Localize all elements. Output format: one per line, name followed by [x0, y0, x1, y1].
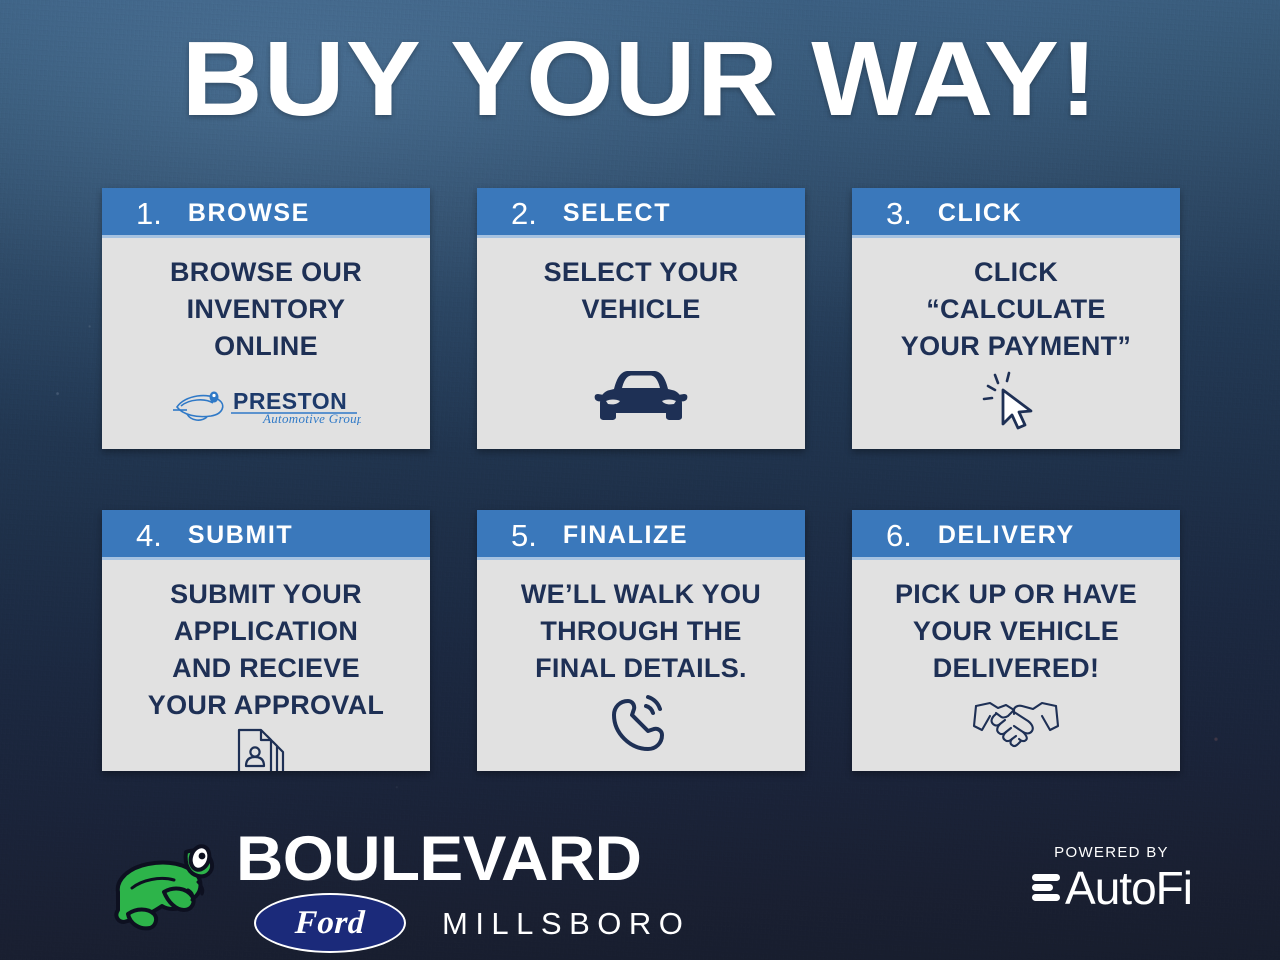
step-card-header: 6. DELIVERY	[852, 510, 1180, 560]
step-card-body: BROWSE OUR INVENTORY ONLINE PRESTON Auto…	[102, 238, 430, 449]
step-title: CLICK	[938, 201, 1022, 226]
step-description: BROWSE OUR INVENTORY ONLINE	[170, 254, 362, 365]
ford-wordmark: Ford	[294, 907, 366, 940]
car-front-icon	[594, 361, 688, 433]
step-card-header: 4. SUBMIT	[102, 510, 430, 560]
ford-logo: Ford	[254, 893, 406, 953]
step-title: FINALIZE	[563, 523, 688, 548]
preston-logo: PRESTON Automotive Group	[171, 383, 361, 425]
step-description: CLICK “CALCULATE YOUR PAYMENT”	[901, 254, 1131, 365]
frog-icon	[112, 830, 222, 938]
autofi-bars-icon	[1031, 870, 1061, 906]
step-number: 6.	[886, 520, 912, 551]
step-title: SUBMIT	[188, 523, 293, 548]
step-card-body: WE’LL WALK YOU THROUGH THE FINAL DETAILS…	[477, 560, 805, 771]
boulevard-wordmark: BOULEVARD	[236, 828, 709, 891]
phone-ringing-icon	[608, 687, 674, 759]
step-card-select[interactable]: 2. SELECT SELECT YOUR VEHICLE	[477, 188, 805, 449]
autofi-mark-row: AutoFi	[1031, 865, 1192, 911]
step-title: SELECT	[563, 201, 671, 226]
step-description: WE’LL WALK YOU THROUGH THE FINAL DETAILS…	[521, 576, 761, 687]
preston-automotive-group-logo-icon: PRESTON Automotive Group	[171, 383, 361, 425]
step-description: SELECT YOUR VEHICLE	[544, 254, 739, 328]
svg-text:Automotive Group: Automotive Group	[262, 411, 361, 425]
step-card-header: 5. FINALIZE	[477, 510, 805, 560]
step-card-header: 1. BROWSE	[102, 188, 430, 238]
step-card-body: PICK UP OR HAVE YOUR VEHICLE DELIVERED!	[852, 560, 1180, 771]
powered-by-label: POWERED BY	[1031, 844, 1192, 861]
ford-millsboro-row: Ford MILLSBORO	[254, 893, 690, 953]
document-person-icon	[237, 724, 295, 771]
handshake-icon	[970, 687, 1062, 759]
boulevard-ford-logo[interactable]: BOULEVARD Ford MILLSBORO	[112, 822, 690, 953]
step-card-body: SELECT YOUR VEHICLE	[477, 238, 805, 449]
step-card-browse[interactable]: 1. BROWSE BROWSE OUR INVENTORY ONLINE PR…	[102, 188, 430, 449]
step-number: 3.	[886, 198, 912, 229]
cursor-click-icon	[981, 365, 1051, 437]
autofi-wordmark: AutoFi	[1065, 865, 1192, 911]
footer: BOULEVARD Ford MILLSBORO POWERED BY Auto…	[0, 812, 1280, 960]
step-card-delivery[interactable]: 6. DELIVERY PICK UP OR HAVE YOUR VEHICLE…	[852, 510, 1180, 771]
step-number: 4.	[136, 520, 162, 551]
step-number: 2.	[511, 198, 537, 229]
step-number: 1.	[136, 198, 162, 229]
step-card-body: CLICK “CALCULATE YOUR PAYMENT”	[852, 238, 1180, 449]
step-card-finalize[interactable]: 5. FINALIZE WE’LL WALK YOU THROUGH THE F…	[477, 510, 805, 771]
step-card-header: 2. SELECT	[477, 188, 805, 238]
step-card-click[interactable]: 3. CLICK CLICK “CALCULATE YOUR PAYMENT”	[852, 188, 1180, 449]
page-title: BUY YOUR WAY!	[0, 26, 1280, 132]
step-number: 5.	[511, 520, 537, 551]
steps-grid: 1. BROWSE BROWSE OUR INVENTORY ONLINE PR…	[102, 188, 1180, 771]
step-description: SUBMIT YOUR APPLICATION AND RECIEVE YOUR…	[148, 576, 384, 724]
autofi-logo[interactable]: POWERED BY AutoFi	[1031, 844, 1192, 911]
location-label: MILLSBORO	[442, 908, 690, 939]
step-card-body: SUBMIT YOUR APPLICATION AND RECIEVE YOUR…	[102, 560, 430, 771]
step-description: PICK UP OR HAVE YOUR VEHICLE DELIVERED!	[895, 576, 1137, 687]
step-title: DELIVERY	[938, 523, 1075, 548]
step-card-header: 3. CLICK	[852, 188, 1180, 238]
boulevard-wordmark-block: BOULEVARD Ford MILLSBORO	[236, 822, 690, 953]
step-card-submit[interactable]: 4. SUBMIT SUBMIT YOUR APPLICATION AND RE…	[102, 510, 430, 771]
step-title: BROWSE	[188, 201, 310, 226]
